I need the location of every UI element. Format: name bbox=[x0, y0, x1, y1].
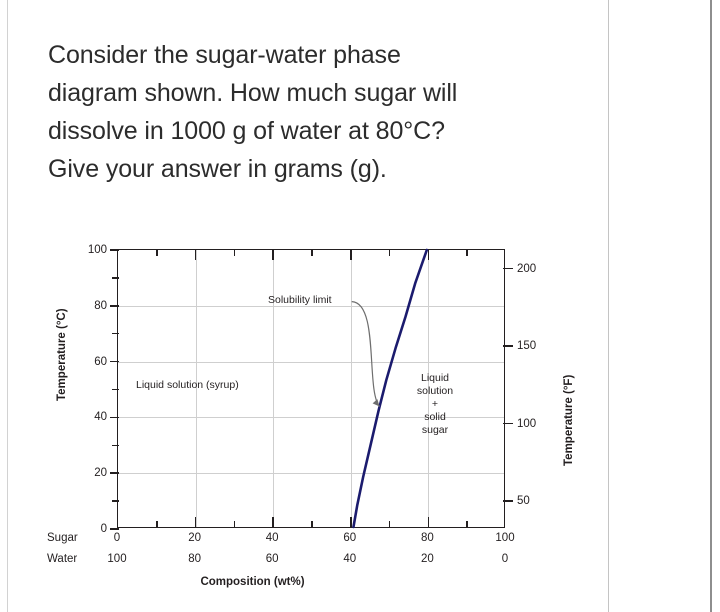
tick-top-minor-70 bbox=[389, 250, 391, 256]
tick-bottom-80 bbox=[428, 517, 430, 527]
y-tick-label-40: 40 bbox=[94, 411, 107, 423]
tick-left-minor-70 bbox=[112, 333, 119, 335]
tick-bottom-minor-10 bbox=[156, 521, 158, 527]
tick-bottom-40 bbox=[272, 517, 274, 527]
x-tick-water-40: 40 bbox=[343, 553, 356, 565]
tick-left-minor-10 bbox=[112, 500, 119, 502]
liquid-solid-line-2: solution bbox=[399, 385, 471, 398]
tick-bottom-minor-90 bbox=[466, 521, 468, 527]
tick-right-100 bbox=[503, 423, 513, 425]
tick-top-60 bbox=[350, 250, 352, 260]
tick-top-minor-30 bbox=[234, 250, 236, 256]
y-tick-label-f-200: 200 bbox=[517, 263, 536, 275]
scrollbar-divider bbox=[710, 0, 712, 612]
x-tick-sugar-100: 100 bbox=[495, 532, 514, 544]
tick-bottom-minor-50 bbox=[311, 521, 313, 527]
question-line-3: dissolve in 1000 g of water at 80°C? bbox=[48, 112, 578, 150]
gridline-vertical-60 bbox=[351, 250, 352, 527]
liquid-solid-line-5: sugar bbox=[399, 424, 471, 437]
y-axis-label-fahrenheit: Temperature (°F) bbox=[563, 375, 575, 466]
region-label-syrup: Liquid solution (syrup) bbox=[136, 379, 239, 391]
y-tick-label-f-50: 50 bbox=[517, 495, 530, 507]
tick-top-minor-90 bbox=[466, 250, 468, 256]
tick-left-minor-90 bbox=[112, 277, 119, 279]
tick-top-minor-10 bbox=[156, 250, 158, 256]
y-tick-label-20: 20 bbox=[94, 467, 107, 479]
question-text: Consider the sugar-water phase diagram s… bbox=[48, 36, 578, 188]
gridline-horizontal-20 bbox=[118, 473, 504, 474]
question-line-4: Give your answer in grams (g). bbox=[48, 150, 578, 188]
tick-left-0 bbox=[110, 528, 119, 530]
liquid-solid-line-4: solid bbox=[399, 411, 471, 424]
tick-left-minor-50 bbox=[112, 389, 119, 391]
tick-right-200 bbox=[503, 268, 513, 270]
tick-bottom-minor-70 bbox=[389, 521, 391, 527]
tick-left-100 bbox=[110, 249, 119, 251]
x-tick-sugar-80: 80 bbox=[421, 532, 434, 544]
annotation-solubility-limit: Solubility limit bbox=[268, 294, 332, 306]
phase-diagram-figure: Temperature (°C) Temperature (°F) 020406… bbox=[0, 236, 600, 606]
x-axis-row-sugar-label: Sugar bbox=[47, 532, 117, 544]
liquid-solid-line-1: Liquid bbox=[399, 372, 471, 385]
x-tick-water-100: 100 bbox=[107, 553, 126, 565]
tick-bottom-20 bbox=[195, 517, 197, 527]
y-tick-label-60: 60 bbox=[94, 356, 107, 368]
tick-right-50 bbox=[503, 500, 513, 502]
plot-area: 02040608010050100150200 Liquid solution … bbox=[117, 249, 505, 528]
x-tick-sugar-20: 20 bbox=[188, 532, 201, 544]
x-tick-water-60: 60 bbox=[266, 553, 279, 565]
panel-divider bbox=[608, 0, 609, 612]
x-tick-water-80: 80 bbox=[188, 553, 201, 565]
tick-top-40 bbox=[272, 250, 274, 260]
tick-top-minor-50 bbox=[311, 250, 313, 256]
x-axis-row-sugar: Sugar 020406080100 bbox=[0, 532, 600, 548]
region-label-liquid-plus-solid: Liquid solution + solid sugar bbox=[399, 372, 471, 437]
tick-right-150 bbox=[503, 345, 513, 347]
tick-left-20 bbox=[110, 472, 119, 474]
y-tick-label-f-150: 150 bbox=[517, 340, 536, 352]
x-axis-label: Composition (wt%) bbox=[0, 576, 505, 588]
y-tick-label-80: 80 bbox=[94, 300, 107, 312]
gridline-vertical-40 bbox=[273, 250, 274, 527]
y-tick-label-f-100: 100 bbox=[517, 418, 536, 430]
solubility-leader-arrow bbox=[352, 302, 380, 407]
x-tick-sugar-0: 0 bbox=[114, 532, 120, 544]
tick-left-40 bbox=[110, 417, 119, 419]
x-axis-row-water: Water 100806040200 bbox=[0, 553, 600, 569]
leader-arrowhead bbox=[373, 399, 380, 406]
tick-top-20 bbox=[195, 250, 197, 260]
tick-top-80 bbox=[428, 250, 430, 260]
liquid-solid-line-3: + bbox=[399, 398, 471, 411]
x-tick-sugar-60: 60 bbox=[343, 532, 356, 544]
question-line-1: Consider the sugar-water phase bbox=[48, 36, 578, 74]
y-axis-label-celsius: Temperature (°C) bbox=[56, 308, 68, 401]
tick-left-60 bbox=[110, 361, 119, 363]
y-tick-label-100: 100 bbox=[88, 244, 107, 256]
tick-bottom-minor-30 bbox=[234, 521, 236, 527]
gridline-horizontal-60 bbox=[118, 362, 504, 363]
tick-left-80 bbox=[110, 305, 119, 307]
tick-bottom-60 bbox=[350, 517, 352, 527]
x-tick-water-0: 0 bbox=[502, 553, 508, 565]
tick-left-minor-30 bbox=[112, 445, 119, 447]
x-tick-water-20: 20 bbox=[421, 553, 434, 565]
question-line-2: diagram shown. How much sugar will bbox=[48, 74, 578, 112]
x-tick-sugar-40: 40 bbox=[266, 532, 279, 544]
